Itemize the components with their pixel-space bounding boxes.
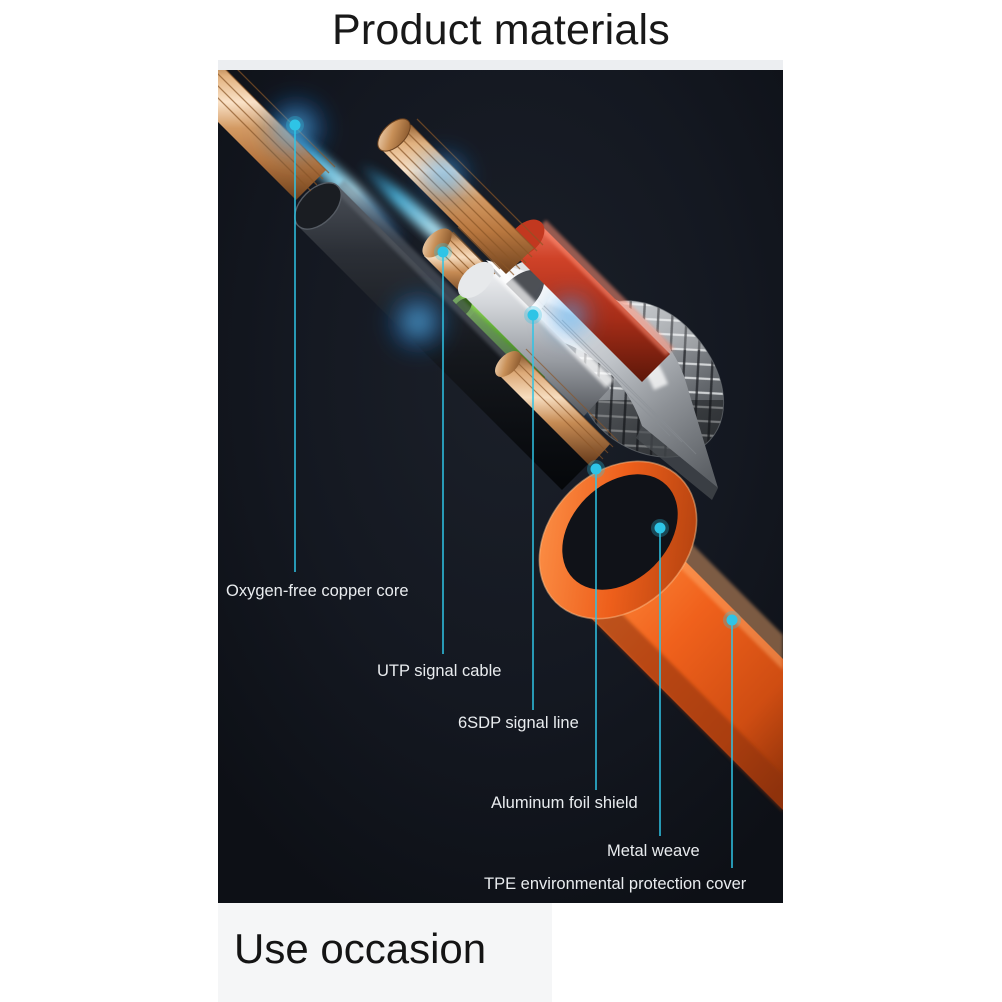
callout-dot-utp-signal-cable[interactable] (438, 247, 449, 258)
use-occasion-title: Use occasion (234, 928, 486, 970)
callout-dot-6sdp-signal-line[interactable] (528, 310, 539, 321)
cable-diagram-svg (218, 70, 783, 903)
page-title: Product materials (332, 9, 670, 52)
callout-label-tpe-environmental-protection-cover: TPE environmental protection cover (484, 876, 746, 893)
use-occasion-section: Use occasion (218, 903, 552, 1002)
callout-label-metal-weave: Metal weave (607, 843, 700, 860)
panel-top-strip (218, 60, 783, 70)
callout-label-6sdp-signal-line: 6SDP signal line (458, 715, 579, 732)
callout-label-aluminum-foil-shield: Aluminum foil shield (491, 795, 638, 812)
callout-dot-metal-weave[interactable] (655, 523, 666, 534)
callout-dot-tpe-environmental-protection-cover[interactable] (727, 615, 738, 626)
page-title-bar: Product materials (0, 0, 1002, 60)
product-materials-page: Product materials (0, 0, 1002, 1002)
callout-label-oxygen-free-copper-core: Oxygen-free copper core (226, 583, 409, 600)
callout-dot-oxygen-free-copper-core[interactable] (290, 120, 301, 131)
callout-label-utp-signal-cable: UTP signal cable (377, 663, 501, 680)
cable-illustration-panel: Oxygen-free copper coreUTP signal cable6… (218, 70, 783, 903)
callout-dot-aluminum-foil-shield[interactable] (591, 464, 602, 475)
